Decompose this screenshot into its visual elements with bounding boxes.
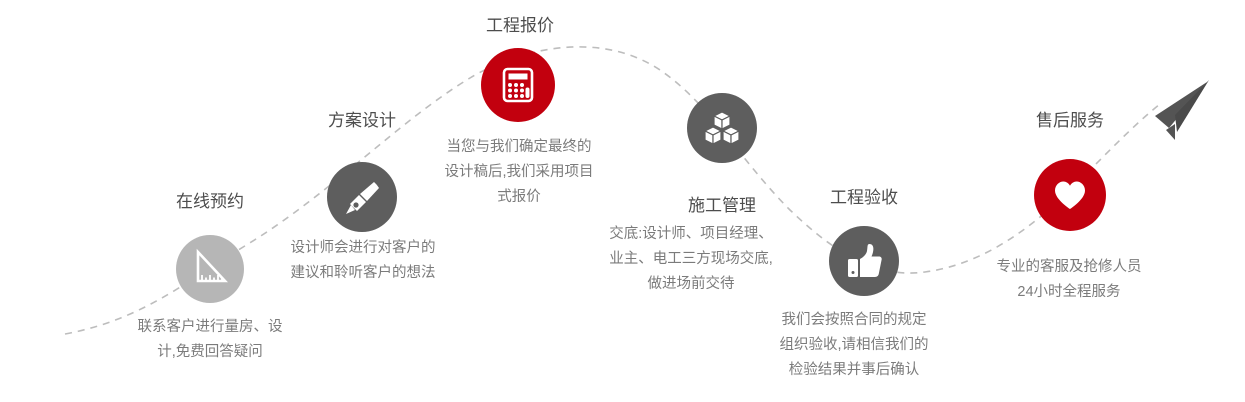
step-title: 方案设计 <box>292 110 432 132</box>
step-title: 工程验收 <box>794 187 934 209</box>
step-description: 交底:设计师、项目经理、业主、电工三方现场交底,做进场前交待 <box>606 222 776 297</box>
step-title: 施工管理 <box>652 195 792 217</box>
step-description: 联系客户进行量房、设计,免费回答疑问 <box>135 315 285 365</box>
heart-icon <box>1034 159 1106 231</box>
cubes-icon <box>687 93 757 163</box>
pen-nib-icon <box>327 162 397 232</box>
calculator-icon <box>481 48 555 122</box>
step-title: 工程报价 <box>450 15 590 37</box>
step-title: 售后服务 <box>1000 110 1140 132</box>
step-description: 专业的客服及抢修人员24小时全程服务 <box>993 255 1145 305</box>
step-description: 设计师会进行对客户的建议和聆听客户的想法 <box>287 236 439 286</box>
step-description: 当您与我们确定最终的设计稿后,我们采用项目式报价 <box>443 135 595 210</box>
ruler-triangle-icon <box>176 235 244 303</box>
thumbs-up-icon <box>829 226 899 296</box>
paper-plane-icon <box>1155 80 1209 140</box>
step-description: 我们会按照合同的规定组织验收,请相信我们的检验结果并事后确认 <box>778 308 930 383</box>
process-flow-diagram: 在线预约 联系客户进行量房、设计,免费回答疑问 方案设计 <box>0 0 1245 402</box>
step-title: 在线预约 <box>140 191 280 213</box>
